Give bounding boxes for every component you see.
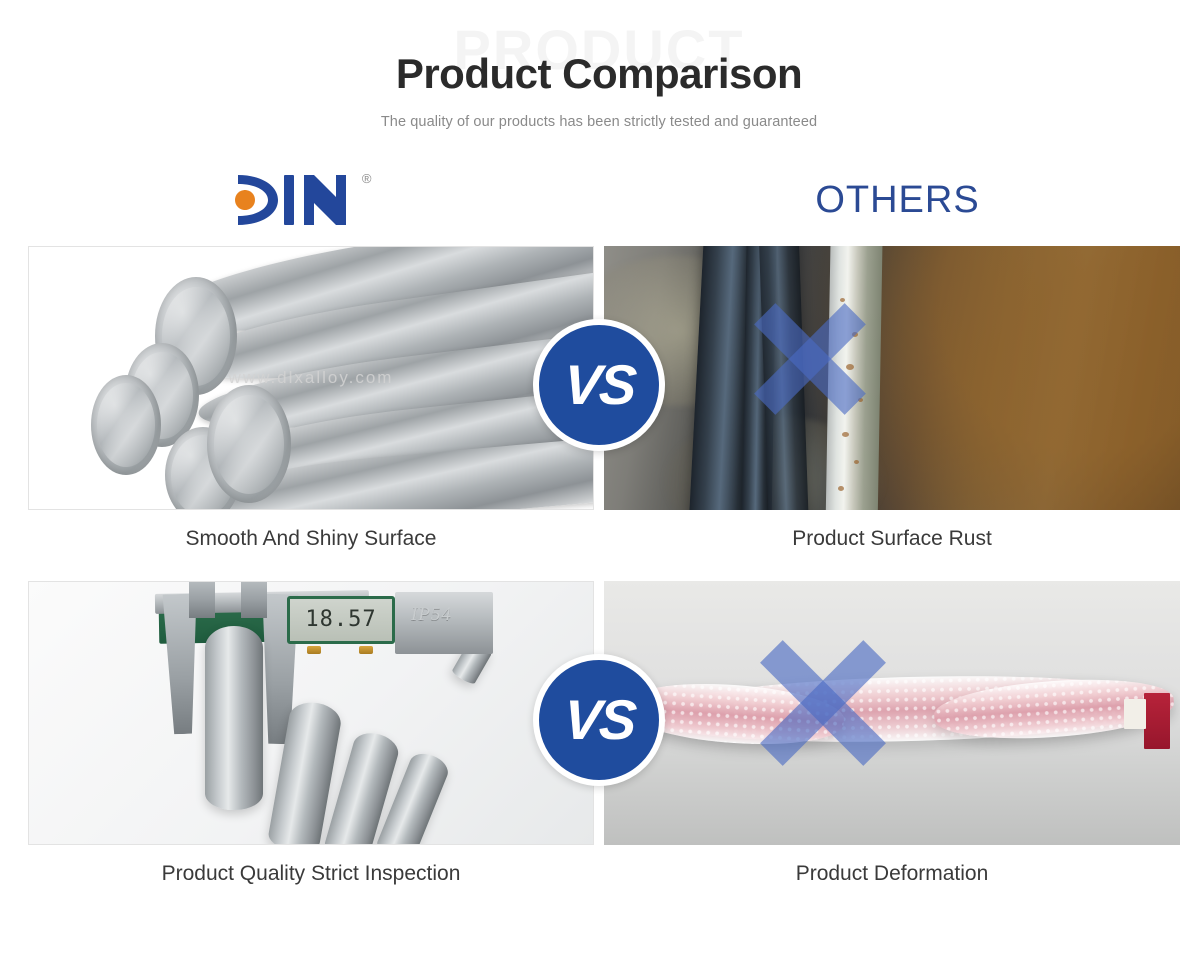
comparison-grid: VS — [0, 246, 1198, 916]
photo-product-deformation — [604, 581, 1180, 845]
brand-cell-others: OTHERS — [599, 154, 1198, 246]
comparison-cell-bad-1: Product Surface Rust — [599, 246, 1198, 581]
registered-trademark-symbol: ® — [362, 171, 372, 186]
page-header: PRODUCT Product Comparison The quality o… — [0, 0, 1198, 130]
vs-badge: VS — [533, 654, 665, 786]
photo-product-surface-rust — [604, 246, 1180, 510]
product-comparison-page: PRODUCT Product Comparison The quality o… — [0, 0, 1198, 968]
page-title: Product Comparison — [0, 50, 1198, 98]
caption-bad-1: Product Surface Rust — [792, 526, 992, 551]
comparison-cell-good-2: 18.57 IP54 Product Quality Strict Inspec… — [0, 581, 599, 916]
vs-badge: VS — [533, 319, 665, 451]
caption-good-2: Product Quality Strict Inspection — [162, 861, 461, 886]
caliper-ip-rating: IP54 — [411, 604, 452, 626]
caliper-reading: 18.57 — [305, 609, 376, 631]
comparison-cell-bad-2: Product Deformation — [599, 581, 1198, 916]
photo-smooth-shiny-surface: www.dlxalloy.com — [28, 246, 594, 510]
digital-caliper-illustration: 18.57 IP54 — [29, 582, 593, 844]
company-logo: ® — [232, 169, 356, 231]
caption-good-1: Smooth And Shiny Surface — [186, 526, 437, 551]
caption-bad-2: Product Deformation — [796, 861, 989, 886]
comparison-cell-good-1: www.dlxalloy.com Smooth And Shiny Surfac… — [0, 246, 599, 581]
steel-bars-illustration: www.dlxalloy.com — [29, 247, 593, 509]
page-subtitle: The quality of our products has been str… — [0, 114, 1198, 130]
bent-bar-illustration — [604, 581, 1180, 845]
comparison-row-1: VS — [0, 246, 1198, 581]
caliper-display: 18.57 — [287, 596, 395, 644]
vs-badge-label: VS — [562, 357, 637, 413]
comparison-row-2: VS — [0, 581, 1198, 916]
vs-badge-label: VS — [562, 692, 637, 748]
dlx-logo-icon — [232, 169, 356, 231]
brand-cell-ours: ® — [0, 154, 599, 246]
others-label: OTHERS — [815, 179, 979, 222]
rusty-pipes-illustration — [604, 246, 1180, 510]
photo-quality-strict-inspection: 18.57 IP54 — [28, 581, 594, 845]
brand-row: ® OTHERS — [0, 154, 1198, 246]
